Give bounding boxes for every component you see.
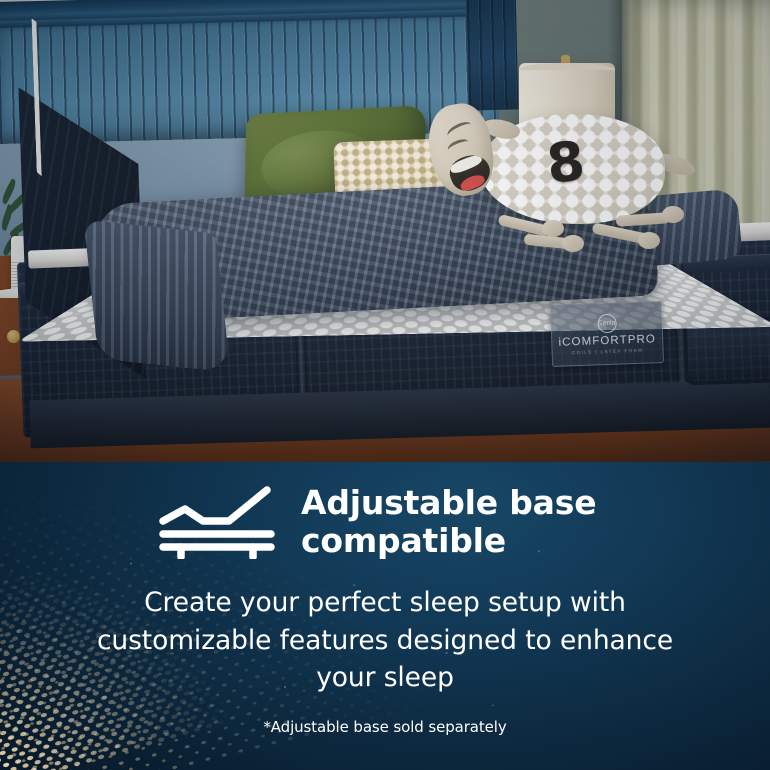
mattress-brand-tag: Serta iCOMFORTPRO COILS | LATEX FOAM bbox=[550, 301, 664, 367]
brand-name: iCOMFORTPRO bbox=[558, 333, 656, 348]
serta-logo-text: Serta bbox=[598, 320, 616, 328]
sheep-hoof bbox=[662, 206, 684, 223]
serta-logo-icon: Serta bbox=[597, 314, 617, 334]
sheep-eye-lower bbox=[446, 137, 471, 155]
nightstand-brass-knob bbox=[7, 330, 20, 343]
banner-content: Adjustable base compatible Create your p… bbox=[0, 462, 770, 770]
banner-subheadline: Create your perfect sleep setup with cus… bbox=[90, 584, 680, 697]
beadboard-wainscot-right bbox=[466, 0, 519, 111]
headline-row: Adjustable base compatible bbox=[0, 484, 770, 559]
sheep-number: 8 bbox=[544, 134, 587, 192]
banner-headline: Adjustable base compatible bbox=[301, 484, 611, 559]
brand-subline: COILS | LATEX FOAM bbox=[572, 348, 644, 355]
serta-counting-sheep: 8 bbox=[420, 96, 720, 286]
feature-banner: Adjustable base compatible Create your p… bbox=[0, 462, 770, 770]
sheep-hoof bbox=[638, 232, 660, 249]
sheep-eye-upper bbox=[445, 119, 474, 141]
sheep-hoof bbox=[562, 235, 584, 252]
sheep-teeth bbox=[449, 153, 484, 176]
product-feature-card: 8 Serta iCOMFORTPRO bbox=[0, 0, 770, 770]
knit-blanket-drape bbox=[84, 219, 231, 372]
bedroom-product-photo: 8 Serta iCOMFORTPRO bbox=[0, 0, 770, 463]
adjustable-bed-base-icon bbox=[159, 485, 277, 559]
sheep-tongue bbox=[459, 172, 487, 192]
banner-footnote: *Adjustable base sold separately bbox=[65, 718, 705, 736]
sheep-hoof bbox=[542, 220, 564, 237]
